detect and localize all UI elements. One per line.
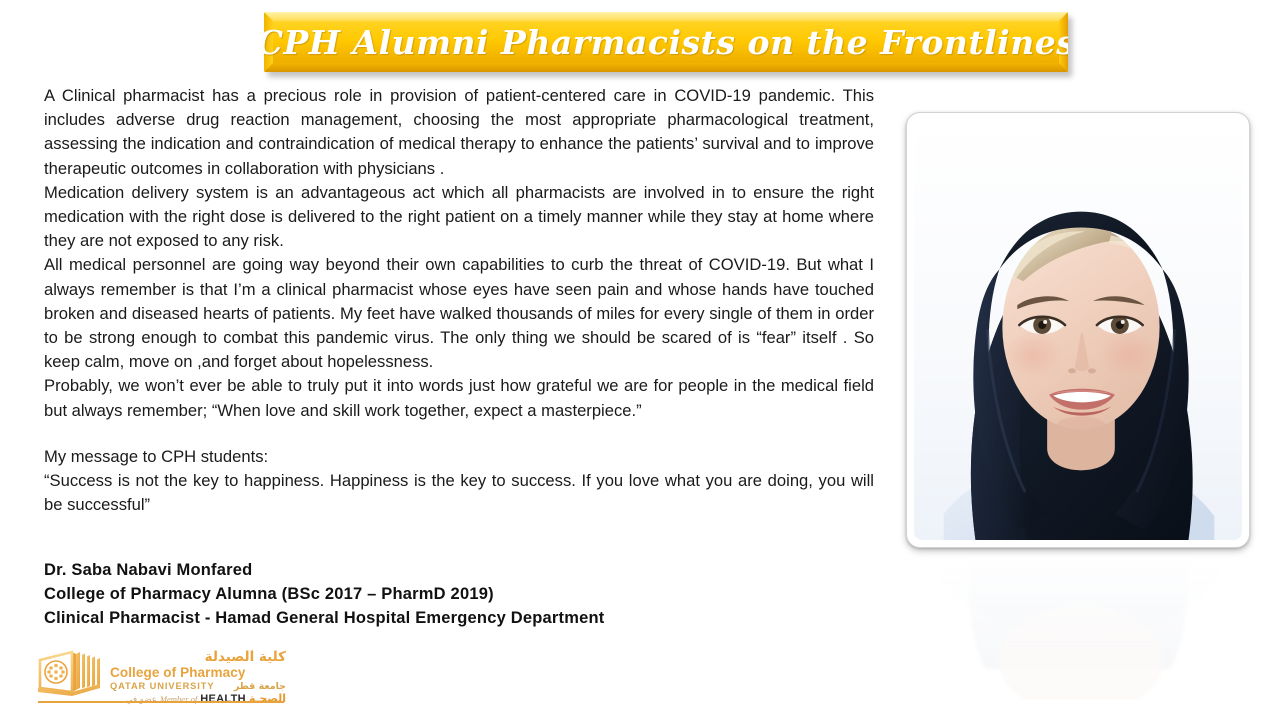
portrait-photo-frame	[906, 112, 1250, 548]
paragraph-delivery: Medication delivery system is an advanta…	[44, 181, 874, 254]
logo-underline-rule	[38, 701, 284, 703]
portrait-reflection-illustration	[906, 550, 1250, 700]
signature-name: Dr. Saba Nabavi Monfared	[44, 558, 874, 582]
article-body: A Clinical pharmacist has a precious rol…	[44, 84, 874, 517]
banner-plate: CPH Alumni Pharmacists on the Frontlines	[264, 12, 1068, 72]
paragraph-personnel: All medical personnel are going way beyo…	[44, 253, 874, 374]
logo-university-ar: جامعة قطر	[234, 681, 286, 692]
qu-college-of-pharmacy-logo: كلية الصيدلة College of Pharmacy QATAR U…	[36, 650, 286, 712]
logo-university-line: QATAR UNIVERSITY جامعة قطر	[110, 681, 286, 692]
logo-health-en: HEALTH	[200, 693, 246, 705]
logo-arabic-name: كلية الصيدلة	[110, 650, 286, 665]
paragraph-intro: A Clinical pharmacist has a precious rol…	[44, 84, 874, 181]
signature-role: Clinical Pharmacist - Hamad General Hosp…	[44, 606, 874, 630]
open-book-logo-icon	[36, 650, 104, 700]
message-heading: My message to CPH students:	[44, 445, 874, 469]
page-title: CPH Alumni Pharmacists on the Frontlines	[264, 12, 1068, 72]
logo-english-name: College of Pharmacy	[110, 665, 286, 680]
message-quote: “Success is not the key to happiness. Ha…	[44, 469, 874, 517]
logo-member-of: Member of	[160, 693, 197, 705]
portrait-illustration	[914, 120, 1242, 540]
signature-credentials: College of Pharmacy Alumna (BSc 2017 – P…	[44, 582, 874, 606]
logo-health-line: عضو في Member of HEALTH الصحـة	[110, 693, 286, 706]
paragraph-gratitude: Probably, we won’t ever be able to truly…	[44, 374, 874, 422]
logo-health-ar: الصحـة	[249, 693, 286, 705]
paragraph-spacer	[44, 423, 874, 445]
title-banner: CPH Alumni Pharmacists on the Frontlines	[264, 12, 1068, 72]
logo-member-ar: عضو في	[126, 694, 157, 706]
portrait-reflection	[906, 550, 1250, 700]
signature-block: Dr. Saba Nabavi Monfared College of Phar…	[44, 558, 874, 630]
logo-university-en: QATAR UNIVERSITY	[110, 681, 214, 692]
logo-text-block: كلية الصيدلة College of Pharmacy QATAR U…	[110, 650, 286, 706]
portrait-photo	[914, 120, 1242, 540]
